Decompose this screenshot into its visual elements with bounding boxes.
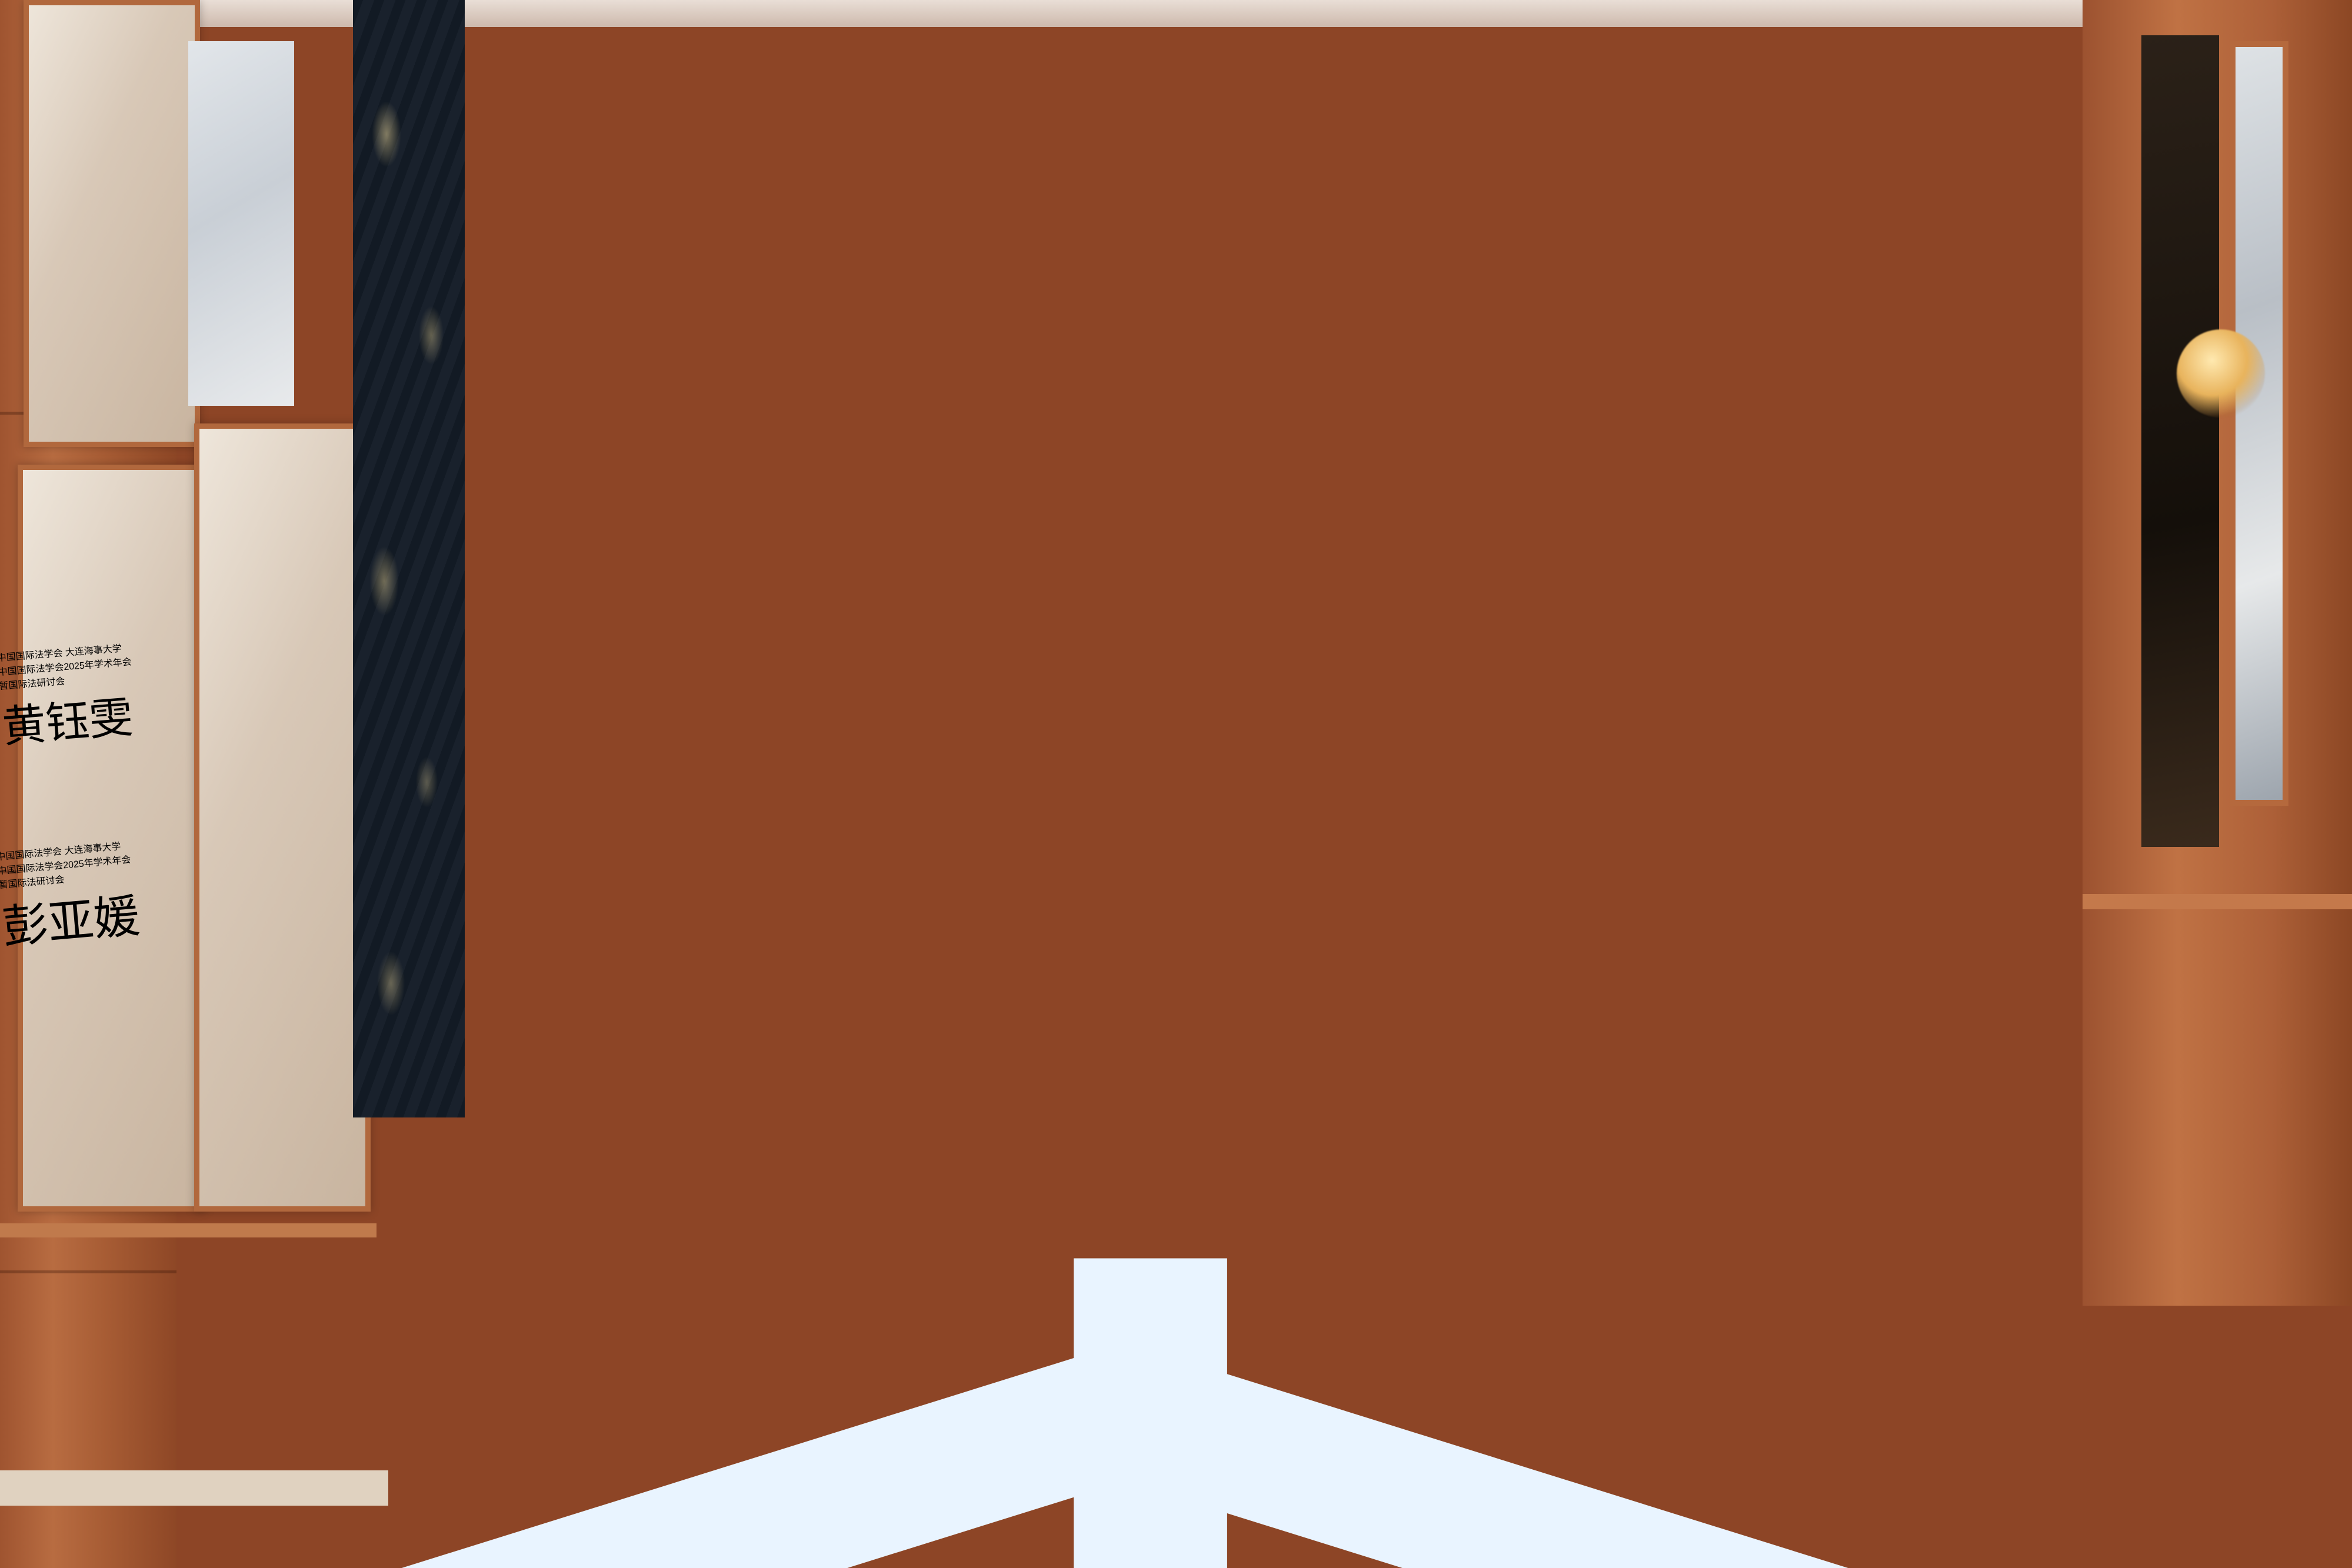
decorative-wall-drape bbox=[353, 0, 465, 1117]
left-wall-trim bbox=[0, 1223, 377, 1237]
right-door-mirror bbox=[2230, 41, 2288, 806]
right-door-dark-glass bbox=[2141, 35, 2219, 847]
left-door-upper bbox=[24, 0, 200, 447]
conference-room-scene: WATERS, INCLUDING HISTORIC BAYS DOCUMENT… bbox=[0, 0, 2352, 1568]
chandelier-light bbox=[2177, 329, 2265, 418]
right-wall-rail bbox=[2083, 894, 2352, 909]
nameplate-2: 中国国际法学会 大连海事大学 中国国际法学会2025年学术年会 暂国际法研讨会 … bbox=[0, 831, 208, 960]
left-door-glass bbox=[188, 41, 294, 406]
nameplate-1: 中国国际法学会 大连海事大学 中国国际法学会2025年学术年会 暂国际法研讨会 … bbox=[0, 635, 198, 750]
left-wall-baseboard bbox=[0, 1470, 388, 1506]
left-door-middle bbox=[194, 423, 371, 1212]
